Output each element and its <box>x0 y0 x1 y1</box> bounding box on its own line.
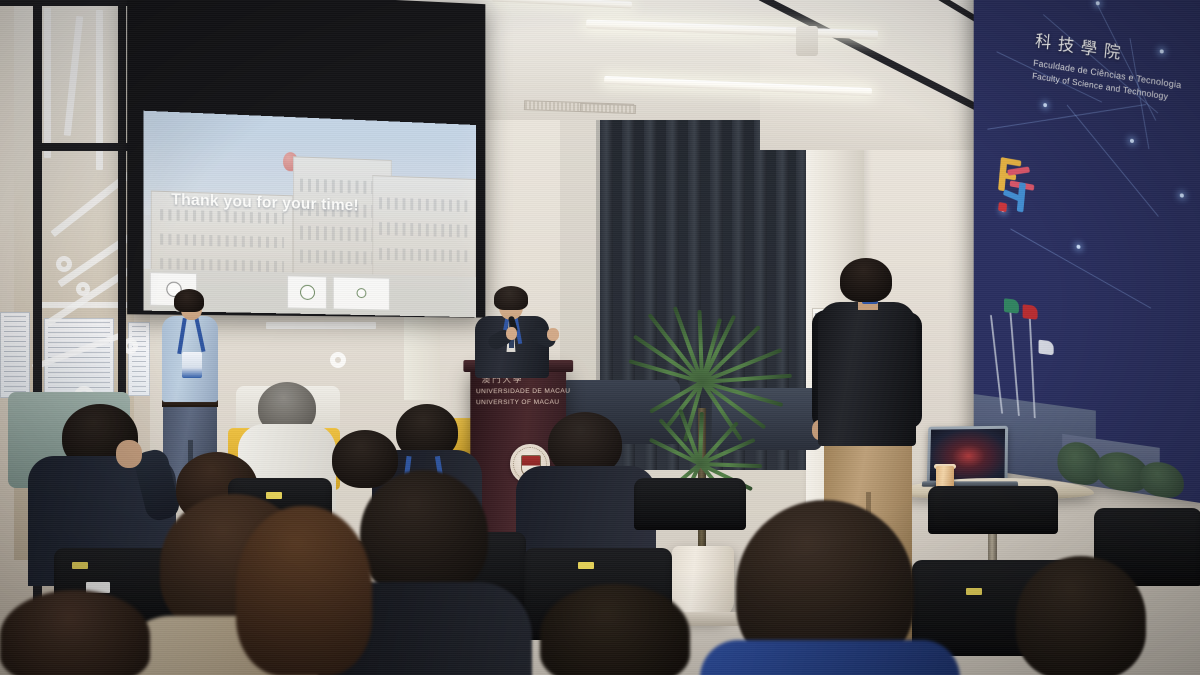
lecture-chair[interactable] <box>928 486 1058 534</box>
window-mullion <box>33 143 128 151</box>
university-seal-logo-2 <box>287 275 327 310</box>
conference-photo-scene: Thank you for your time! <box>0 0 1200 675</box>
audience-head <box>360 470 488 598</box>
fst-banner-text-block: 科技學院 Faculdade de Ciências e Tecnologia … <box>1032 27 1185 104</box>
audience-head <box>332 430 398 488</box>
banner-photo-strip <box>974 274 1200 506</box>
presenter-hand-left <box>506 327 517 340</box>
circuit-node-decal <box>56 256 72 272</box>
circuit-node-decal <box>76 282 90 296</box>
audience-head <box>0 590 150 675</box>
audience-head <box>236 506 372 675</box>
background-monitor <box>128 322 150 396</box>
lecture-chair[interactable] <box>634 478 746 530</box>
attendee-left-name-badge <box>182 352 202 378</box>
air-vent <box>580 103 636 114</box>
seal-icon <box>357 288 367 298</box>
audience-head <box>540 584 690 675</box>
circuit-node-decal <box>330 352 346 368</box>
macau-flag <box>1004 298 1019 313</box>
ceiling-wall-speaker <box>796 26 818 56</box>
circuit-trace-decal <box>44 8 51 158</box>
circuit-trace-decal <box>266 322 376 329</box>
attendee-right-black-tshirt <box>818 302 916 446</box>
circuit-trace-decal <box>40 302 130 308</box>
audience-hand <box>116 440 142 468</box>
white-flag <box>1039 340 1054 356</box>
china-flag <box>1022 304 1037 320</box>
presenter-hair <box>494 286 528 310</box>
attendee-right-hair <box>840 258 892 302</box>
fst-monogram-logo <box>994 157 1043 220</box>
audience-head <box>1016 556 1146 675</box>
green-institute-logo-3 <box>333 276 390 311</box>
audience-body <box>700 640 960 675</box>
podium-portuguese-text: UNIVERSIDADE DE MACAU <box>476 388 566 396</box>
background-monitor <box>0 312 30 398</box>
podium-english-text: UNIVERSITY OF MACAU <box>476 399 566 406</box>
attendee-left-hair <box>174 289 204 312</box>
projection-screen[interactable]: Thank you for your time! <box>144 111 476 318</box>
seal-icon <box>300 285 315 300</box>
presenter-hand-right <box>547 328 559 341</box>
plant-pot <box>672 546 734 620</box>
